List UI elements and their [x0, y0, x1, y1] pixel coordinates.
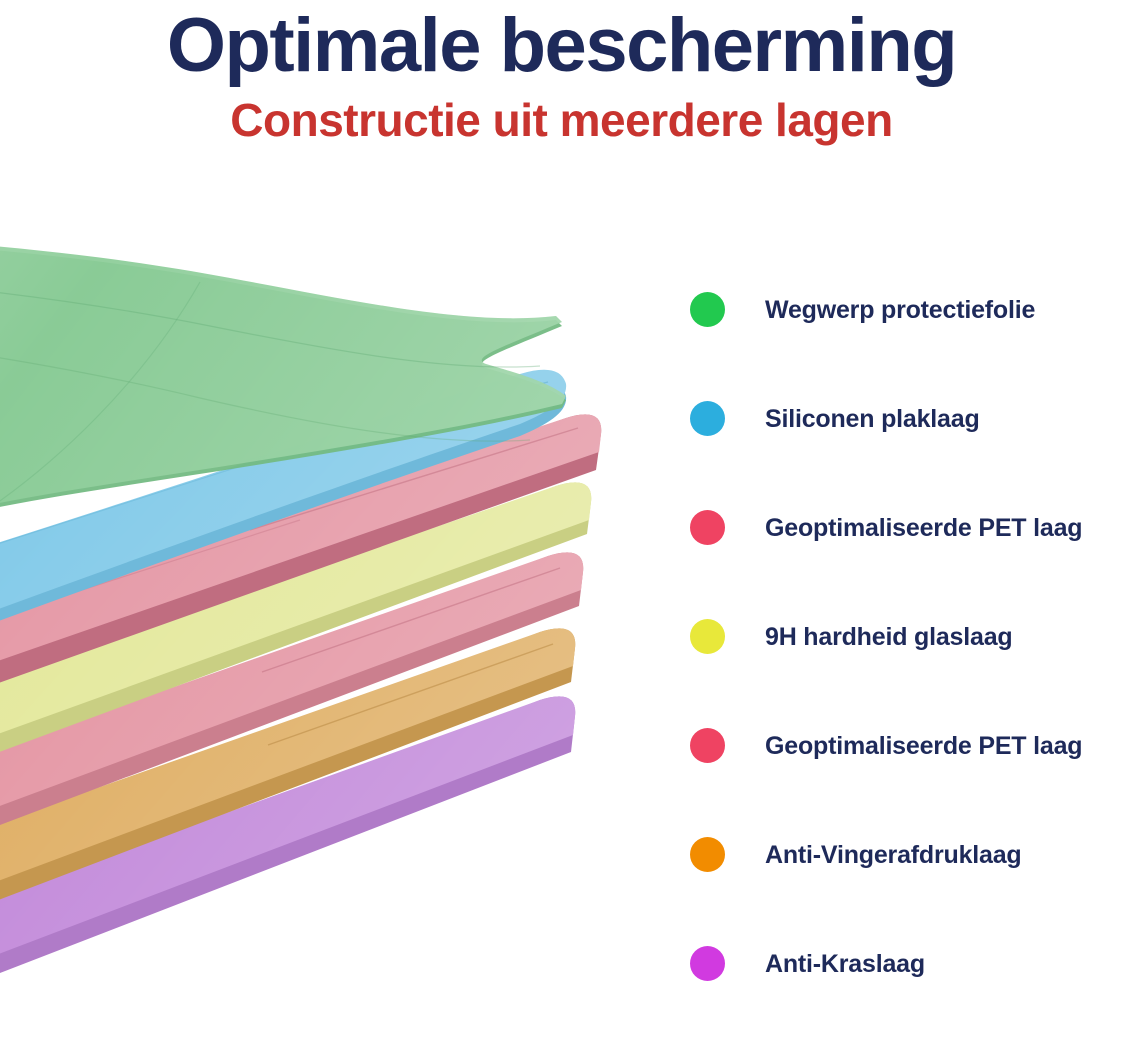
legend-item-label: Siliconen plaklaag: [765, 404, 980, 434]
legend-item-siliconen-plaklaag[interactable]: Siliconen plaklaag: [690, 364, 1123, 473]
legend-item-label: Anti-Kraslaag: [765, 949, 925, 979]
legend-item-anti-vingerafdruklaag[interactable]: Anti-Vingerafdruklaag: [690, 800, 1123, 909]
legend-dot-icon: [690, 510, 725, 545]
legend-item-wegwerp-protectiefolie[interactable]: Wegwerp protectiefolie: [690, 255, 1123, 364]
legend-item-9h-hardheid-glaslaag[interactable]: 9H hardheid glaslaag: [690, 582, 1123, 691]
legend-dot-icon: [690, 728, 725, 763]
legend-dot-icon: [690, 837, 725, 872]
legend-item-geoptimaliseerde-pet-laag-1[interactable]: Geoptimaliseerde PET laag: [690, 473, 1123, 582]
legend-dot-icon: [690, 619, 725, 654]
layer-legend: Wegwerp protectiefolie Siliconen plaklaa…: [690, 255, 1123, 1018]
legend-item-geoptimaliseerde-pet-laag-2[interactable]: Geoptimaliseerde PET laag: [690, 691, 1123, 800]
legend-item-label: Geoptimaliseerde PET laag: [765, 731, 1082, 761]
legend-item-label: Geoptimaliseerde PET laag: [765, 513, 1082, 543]
exploded-layers-illustration: [0, 0, 640, 1054]
legend-item-label: 9H hardheid glaslaag: [765, 622, 1012, 652]
legend-item-label: Wegwerp protectiefolie: [765, 295, 1035, 325]
legend-dot-icon: [690, 292, 725, 327]
legend-dot-icon: [690, 946, 725, 981]
legend-item-label: Anti-Vingerafdruklaag: [765, 840, 1022, 870]
legend-dot-icon: [690, 401, 725, 436]
legend-item-anti-kraslaag[interactable]: Anti-Kraslaag: [690, 909, 1123, 1018]
